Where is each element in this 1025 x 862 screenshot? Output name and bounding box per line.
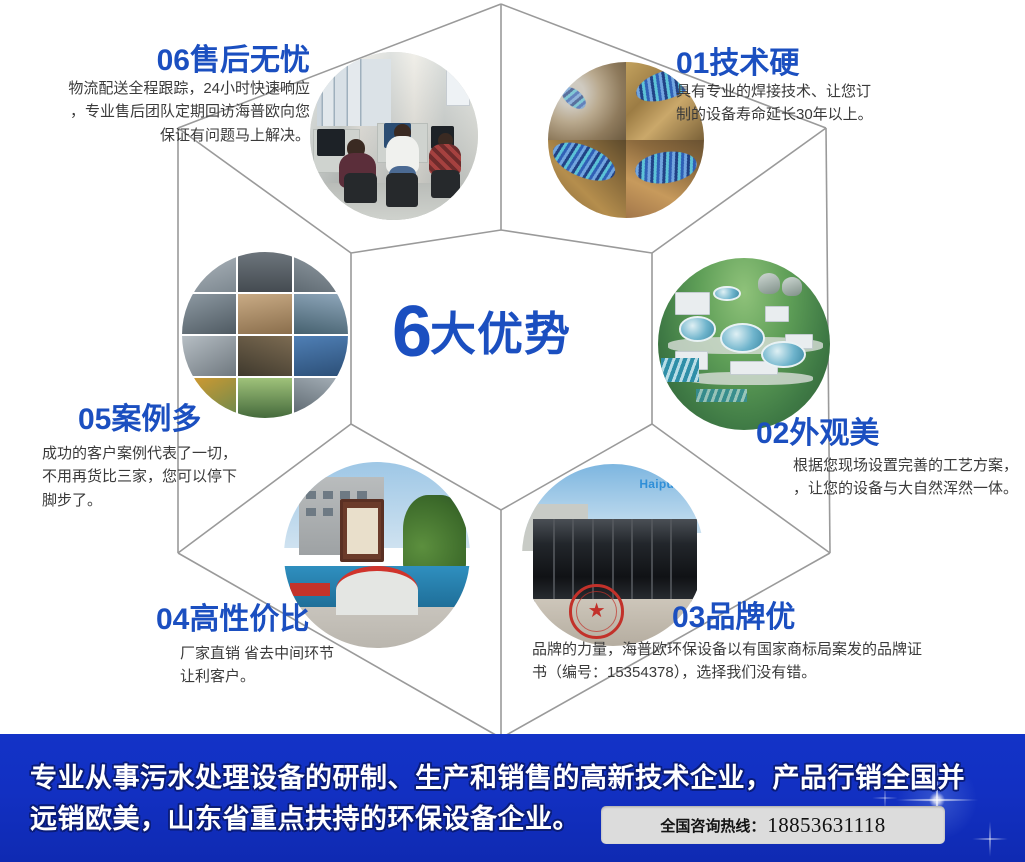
hotline-box[interactable]: 全国咨询热线： 18853631118 [601, 806, 945, 844]
advantage-01-heading: 01技术硬 [676, 48, 1006, 80]
advantage-01-text: 01技术硬 具有专业的焊接技术、让您订 制的设备寿命延长30年以上。 [676, 48, 1006, 127]
advantage-06-body: 物流配送全程跟踪，24小时快速响应 ，专业售后团队定期回访海普欧向您 保证有问题… [10, 77, 310, 148]
advantage-05-text: 05案例多 成功的客户案例代表了一切， 不用再货比三家，您可以停下 脚步了。 [42, 404, 322, 513]
infographic-root: 6大优势 06售后无忧 物流配送全程跟踪，24小时快速响应 [0, 0, 1025, 862]
center-suffix: 大优势 [430, 308, 571, 360]
advantage-02-photo [658, 258, 830, 430]
advantage-02-text: 02外观美 根据您现场设置完善的工艺方案， ，让您的设备与大自然浑然一体。 [700, 418, 1018, 501]
advantage-02-body: 根据您现场设置完善的工艺方案， ，让您的设备与大自然浑然一体。 [700, 454, 1018, 501]
haipuou-logo: Haipuou [639, 477, 689, 491]
advantage-01-body: 具有专业的焊接技术、让您订 制的设备寿命延长30年以上。 [676, 80, 1006, 127]
advantage-04-body: 厂家直销 省去中间环节 让利客户。 [156, 642, 456, 689]
advantage-06-photo [310, 52, 478, 220]
center-number: 6 [392, 292, 430, 372]
advantage-04-text: 04高性价比 厂家直销 省去中间环节 让利客户。 [156, 604, 456, 689]
advantage-02-heading: 02外观美 [700, 418, 1018, 450]
advantage-03-body: 品牌的力量，海普欧环保设备以有国家商标局案发的品牌证 书（编号：15354378… [532, 638, 1002, 685]
advantage-03-text: 03品牌优 品牌的力量，海普欧环保设备以有国家商标局案发的品牌证 书（编号：15… [532, 602, 1002, 685]
banner-slogan-line1: 专业从事污水处理设备的研制、生产和销售的高新技术企业，产品行销全国并 [30, 763, 965, 793]
advantage-06-heading: 06售后无忧 [10, 45, 310, 77]
advantage-04-heading: 04高性价比 [156, 604, 456, 636]
advantage-05-body: 成功的客户案例代表了一切， 不用再货比三家，您可以停下 脚步了。 [42, 442, 322, 513]
advantage-03-heading: 03品牌优 [532, 602, 1002, 634]
advantage-06-text: 06售后无忧 物流配送全程跟踪，24小时快速响应 ，专业售后团队定期回访海普欧向… [10, 45, 310, 148]
hotline-number: 18853631118 [767, 813, 885, 838]
center-heading: 6大优势 [392, 296, 622, 368]
advantage-05-heading: 05案例多 [42, 404, 322, 436]
hotline-label: 全国咨询热线： [660, 815, 765, 836]
advantage-05-photo [182, 252, 348, 418]
